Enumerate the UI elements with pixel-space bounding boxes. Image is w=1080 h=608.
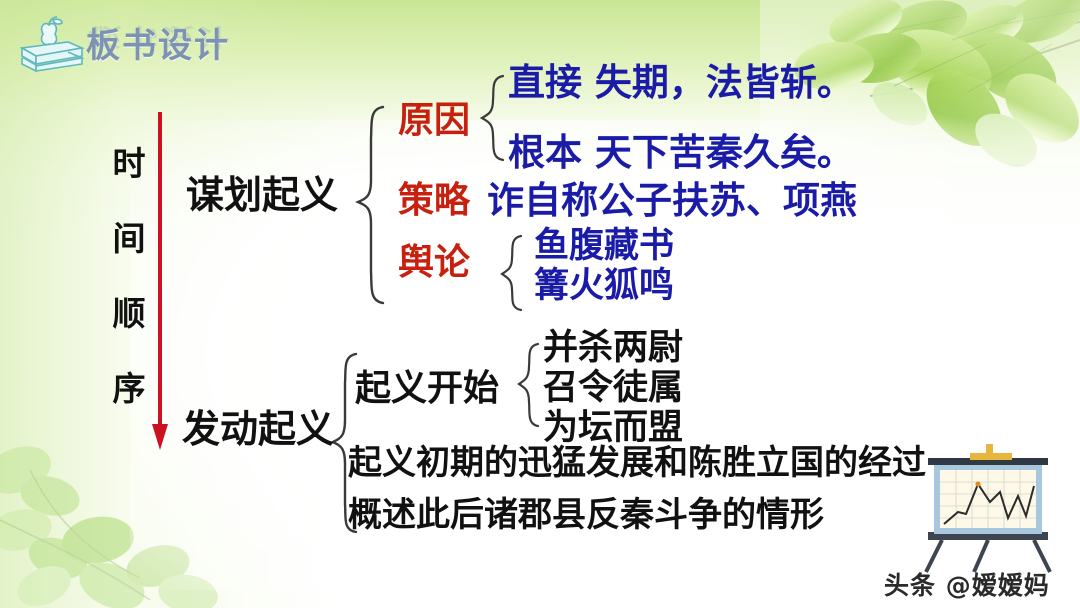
cause-item-fundamental: 根本 天下苦秦久矣。 <box>508 134 854 171</box>
branch-title-planning: 谋划起义 <box>186 176 338 214</box>
strategy-item: 诈自称公子扶苏、项燕 <box>487 182 857 219</box>
slide-canvas: 板书设计 板书设计 时间顺序 谋划起义 <box>0 0 1080 608</box>
background-green-gradient-left <box>0 0 340 608</box>
opinion-item-fish-belly-book: 鱼腹藏书 <box>534 228 674 263</box>
group-label-cause: 原因 <box>398 102 470 138</box>
group-label-uprising-begins: 起义开始 <box>355 370 499 406</box>
presentation-board-chart-icon <box>912 444 1064 576</box>
cause-item-direct: 直接 失期，法皆斩。 <box>508 64 854 101</box>
page-title: 板书设计 <box>86 18 230 67</box>
apple-on-books-icon <box>14 12 88 74</box>
red-down-arrow <box>152 112 168 450</box>
uprising-item-build-altar: 为坛而盟 <box>543 410 683 445</box>
opinion-item-bonfire-fox-cry: 篝火狐鸣 <box>534 268 674 303</box>
group-label-public-opinion: 舆论 <box>398 244 470 280</box>
summary-line-aftermath: 概述此后诸郡县反秦斗争的情形 <box>348 498 824 532</box>
timeline-vertical-label: 时间顺序 <box>110 146 143 446</box>
summary-line-development: 起义初期的迅猛发展和陈胜立国的经过 <box>348 446 926 480</box>
branch-title-launching: 发动起义 <box>182 410 334 448</box>
group-label-strategy: 策略 <box>398 182 470 218</box>
watermark-text: 头条 @嫒嫒妈 <box>884 566 1050 602</box>
uprising-item-kill-officers: 并杀两尉 <box>543 330 683 365</box>
uprising-item-summon-followers: 召令徒属 <box>543 370 683 405</box>
